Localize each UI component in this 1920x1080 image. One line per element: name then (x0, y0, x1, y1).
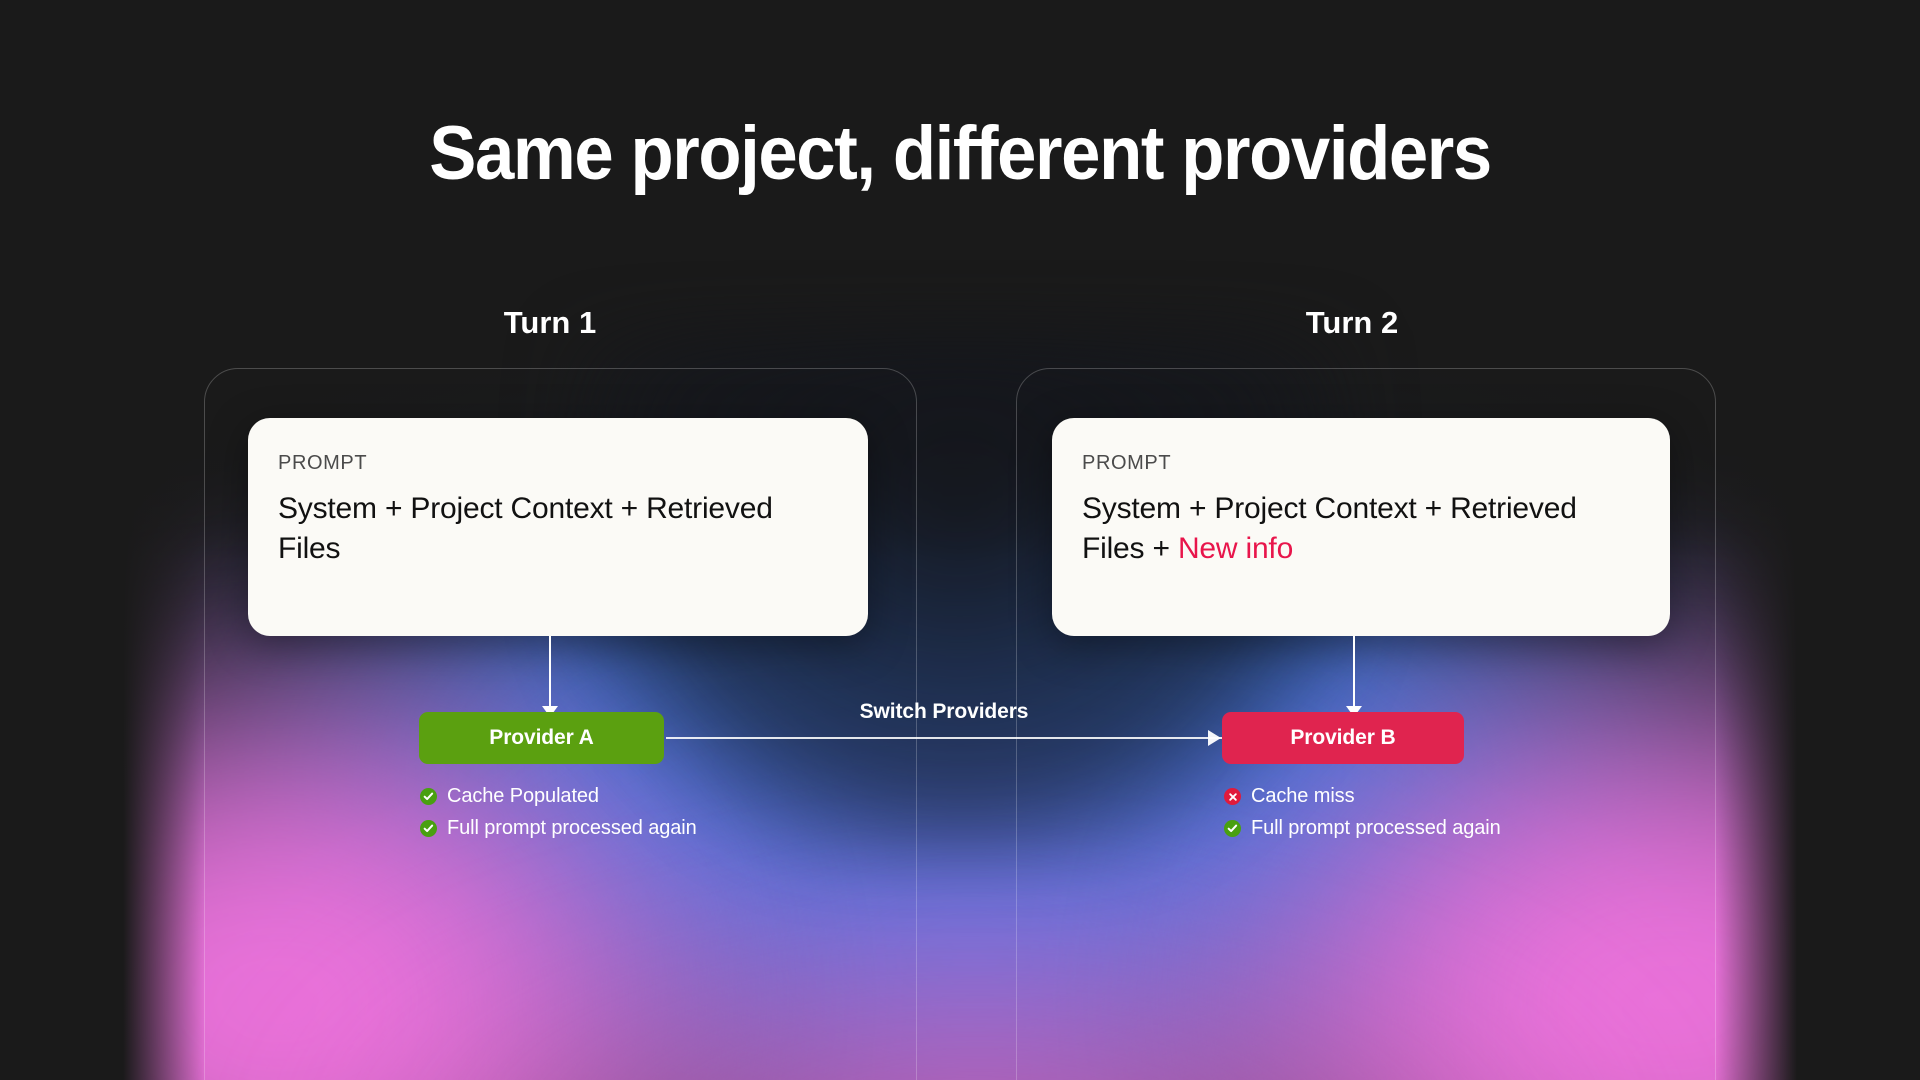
slide-canvas: Same project, different providers Turn 1… (0, 0, 1920, 1080)
provider-b-button[interactable]: Provider B (1222, 712, 1464, 764)
status-label: Cache miss (1251, 785, 1354, 808)
switch-providers-label: Switch Providers (666, 700, 1222, 724)
arrow-right-icon (1208, 730, 1221, 746)
prompt-kicker: PROMPT (278, 452, 838, 475)
prompt-text-highlight: New info (1178, 532, 1293, 565)
turn-2-prompt-card: PROMPT System + Project Context + Retrie… (1052, 418, 1670, 636)
provider-a-button[interactable]: Provider A (419, 712, 664, 764)
prompt-body: System + Project Context + Retrieved Fil… (1082, 489, 1640, 569)
page-title: Same project, different providers (67, 110, 1853, 197)
turn-2-label: Turn 2 (1202, 305, 1502, 341)
turn-1-label: Turn 1 (400, 305, 700, 341)
check-circle-icon (420, 820, 437, 837)
prompt-text: System + Project Context + Retrieved Fil… (1082, 492, 1577, 565)
arrow-down-icon (1346, 636, 1362, 718)
arrow-down-icon (542, 636, 558, 718)
status-label: Full prompt processed again (447, 817, 697, 840)
check-circle-icon (1224, 820, 1241, 837)
status-item: Cache Populated (420, 784, 697, 809)
check-circle-icon (420, 788, 437, 805)
prompt-kicker: PROMPT (1082, 452, 1640, 475)
status-label: Cache Populated (447, 785, 599, 808)
status-item: Full prompt processed again (420, 816, 697, 841)
status-item: Full prompt processed again (1224, 816, 1501, 841)
status-item: Cache miss (1224, 784, 1501, 809)
switch-providers-connector (666, 737, 1222, 739)
status-label: Full prompt processed again (1251, 817, 1501, 840)
x-circle-icon (1224, 788, 1241, 805)
turn-1-status-list: Cache Populated Full prompt processed ag… (420, 784, 697, 848)
turn-1-prompt-card: PROMPT System + Project Context + Retrie… (248, 418, 868, 636)
turn-2-status-list: Cache miss Full prompt processed again (1224, 784, 1501, 848)
prompt-text: System + Project Context + Retrieved Fil… (278, 492, 773, 565)
prompt-body: System + Project Context + Retrieved Fil… (278, 489, 838, 569)
